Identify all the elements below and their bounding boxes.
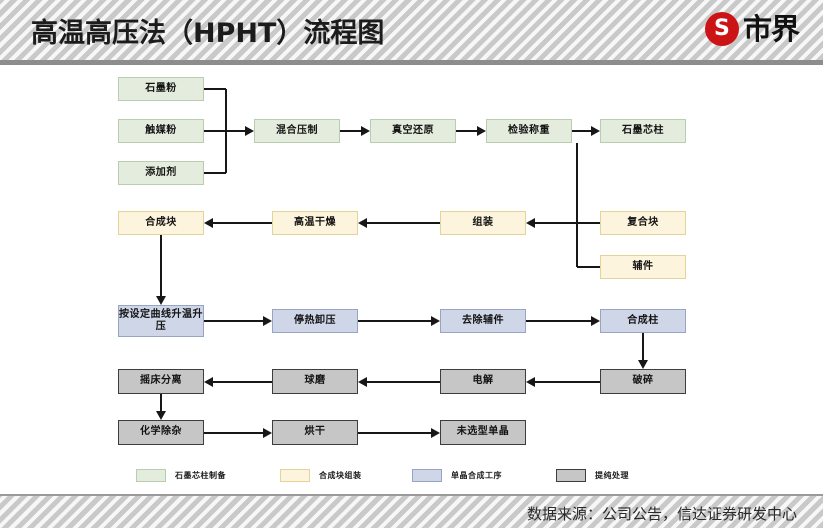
arrow-n5-n6 [477,126,486,136]
flow-node-n5: 真空还原 [370,119,456,143]
flow-node-n10: 组装 [440,211,526,235]
connector-n12-bus [577,266,600,268]
connector-bus-n10 [535,222,577,224]
legend-swatch-gray [556,469,586,482]
arrow-n15-n16 [591,316,600,326]
flow-node-n3: 添加剂 [118,161,204,185]
connector-n5-n6 [456,130,477,132]
flow-node-n4: 混合压制 [254,119,340,143]
flow-node-n11: 复合块 [600,211,686,235]
connector-n6-n7 [572,130,591,132]
legend-label-gray: 提纯处理 [595,470,629,481]
flow-node-n23: 未选型单晶 [440,420,526,445]
connector-n13-n14 [204,320,263,322]
legend-item-gray: 提纯处理 [556,469,629,482]
logo-glyph: S [714,18,730,40]
diagram-canvas: 石墨粉触媒粉添加剂混合压制真空还原检验称重石墨芯柱合成块高温干燥组装复合块辅件按… [0,65,823,465]
flow-node-n12: 辅件 [600,255,686,279]
connector-n21-n22 [204,432,263,434]
arrow-n9-n8 [204,218,213,228]
connector-n9-n8 [213,222,272,224]
connector-n8-n13 [160,235,162,296]
brand-logo: S 市界 [705,12,799,46]
flow-node-n16: 合成柱 [600,309,686,333]
flow-node-n20: 破碎 [600,369,686,394]
connector-n16-n20 [642,333,644,360]
flow-node-n7: 石墨芯柱 [600,119,686,143]
connector-n1-merge [204,88,226,90]
legend-label-blue: 单晶合成工序 [451,470,502,481]
connector-n4-n5 [340,130,361,132]
flow-node-n22: 烘干 [272,420,358,445]
header-bar: 高温高压法（HPHT）流程图 S 市界 [0,0,823,60]
logo-wordmark: 市界 [743,15,799,44]
connector-n7-bus [576,143,578,267]
arrow-merge-n4 [245,126,254,136]
arrow-n17-n21 [156,411,166,420]
legend-swatch-yellow [280,469,310,482]
legend-item-green: 石墨芯柱制备 [136,469,226,482]
legend-swatch-green [136,469,166,482]
data-source-note: 数据来源：公司公告，信达证券研发中心 [527,503,797,524]
flow-node-n8: 合成块 [118,211,204,235]
flow-node-n21: 化学除杂 [118,420,204,445]
legend-item-blue: 单晶合成工序 [412,469,502,482]
connector-n19-n18 [367,381,440,383]
legend-swatch-blue [412,469,442,482]
flow-node-n14: 停热卸压 [272,309,358,333]
flow-node-n1: 石墨粉 [118,77,204,101]
connector-n20-n19 [535,381,600,383]
flowchart-page: 高温高压法（HPHT）流程图 S 市界 石墨粉触媒粉添加剂混合压制真空还原检验称… [0,0,823,528]
legend-label-green: 石墨芯柱制备 [175,470,226,481]
legend-item-yellow: 合成块组装 [280,469,362,482]
arrow-n16-n20 [638,360,648,369]
legend: 石墨芯柱制备合成块组装单晶合成工序提纯处理 [0,465,823,495]
flow-node-n6: 检验称重 [486,119,572,143]
flow-node-n15: 去除辅件 [440,309,526,333]
connector-n15-n16 [526,320,591,322]
flow-node-n19: 电解 [440,369,526,394]
connector-n11-bus [577,222,600,224]
arrow-n13-n14 [263,316,272,326]
legend-label-yellow: 合成块组装 [319,470,362,481]
connector-n3-merge [204,172,226,174]
connector-n18-n17 [213,381,272,383]
flow-node-n9: 高温干燥 [272,211,358,235]
flow-node-n13: 按设定曲线升温升压 [118,305,204,337]
arrow-n4-n5 [361,126,370,136]
connector-n14-n15 [358,320,431,322]
arrow-n20-n19 [526,377,535,387]
flow-node-n17: 摇床分离 [118,369,204,394]
connector-n10-n9 [367,222,440,224]
arrow-n8-n13 [156,296,166,305]
arrow-bus-n10 [526,218,535,228]
arrow-n6-n7 [591,126,600,136]
connector-n17-n21 [160,394,162,411]
flow-node-n18: 球磨 [272,369,358,394]
arrow-n10-n9 [358,218,367,228]
arrow-n19-n18 [358,377,367,387]
arrow-n14-n15 [431,316,440,326]
flow-node-n2: 触媒粉 [118,119,204,143]
arrow-n22-n23 [431,428,440,438]
connector-n2-n4 [204,130,245,132]
arrow-n21-n22 [263,428,272,438]
page-title: 高温高压法（HPHT）流程图 [31,11,384,50]
logo-circle-icon: S [705,12,739,46]
arrow-n18-n17 [204,377,213,387]
connector-n22-n23 [358,432,431,434]
